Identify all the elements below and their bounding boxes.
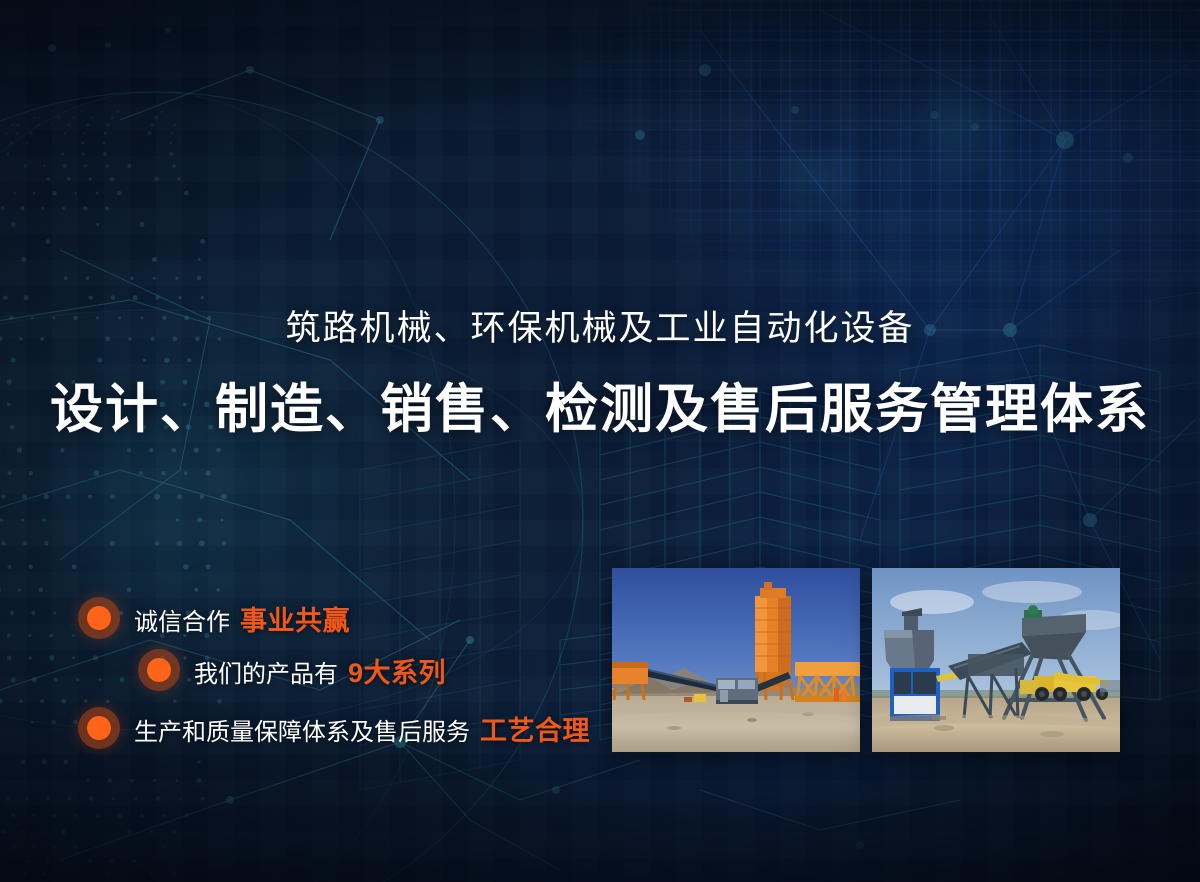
photo-mobile-plant-image — [872, 568, 1120, 752]
list-item: 生产和质量保障体系及售后服务 工艺合理 — [78, 702, 600, 754]
banner-subtitle: 筑路机械、环保机械及工业自动化设备 — [0, 300, 1200, 351]
bullet-label: 诚信合作 — [134, 602, 230, 637]
photo-mobile-plant — [872, 568, 1120, 752]
list-item: 诚信合作 事业共赢 — [78, 592, 600, 644]
bullet-highlight: 事业共赢 — [240, 599, 350, 638]
photo-batching-plant — [612, 568, 860, 752]
bullet-highlight: 9大系列 — [348, 651, 446, 690]
bullet-text: 诚信合作 事业共赢 — [134, 599, 350, 638]
banner-content: 筑路机械、环保机械及工业自动化设备 设计、制造、销售、检测及售后服务管理体系 诚… — [0, 0, 1200, 882]
bullet-label: 我们的产品有 — [194, 654, 338, 689]
bullet-text: 生产和质量保障体系及售后服务 工艺合理 — [134, 709, 590, 748]
photo-gallery — [612, 568, 1120, 752]
bullet-text: 我们的产品有 9大系列 — [194, 651, 446, 690]
list-item: 我们的产品有 9大系列 — [138, 644, 600, 696]
orange-dot-icon — [78, 597, 120, 639]
feature-bullet-list: 诚信合作 事业共赢 我们的产品有 9大系列 生产和质量保障体系及售后服务 工艺合… — [0, 592, 600, 754]
hero-banner: 筑路机械、环保机械及工业自动化设备 设计、制造、销售、检测及售后服务管理体系 诚… — [0, 0, 1200, 882]
orange-dot-icon — [78, 707, 120, 749]
orange-dot-icon — [138, 649, 180, 691]
banner-headline: 设计、制造、销售、检测及售后服务管理体系 — [0, 367, 1200, 443]
bullet-label: 生产和质量保障体系及售后服务 — [134, 712, 470, 747]
bullet-highlight: 工艺合理 — [480, 709, 590, 748]
photo-batching-plant-image — [612, 568, 860, 752]
